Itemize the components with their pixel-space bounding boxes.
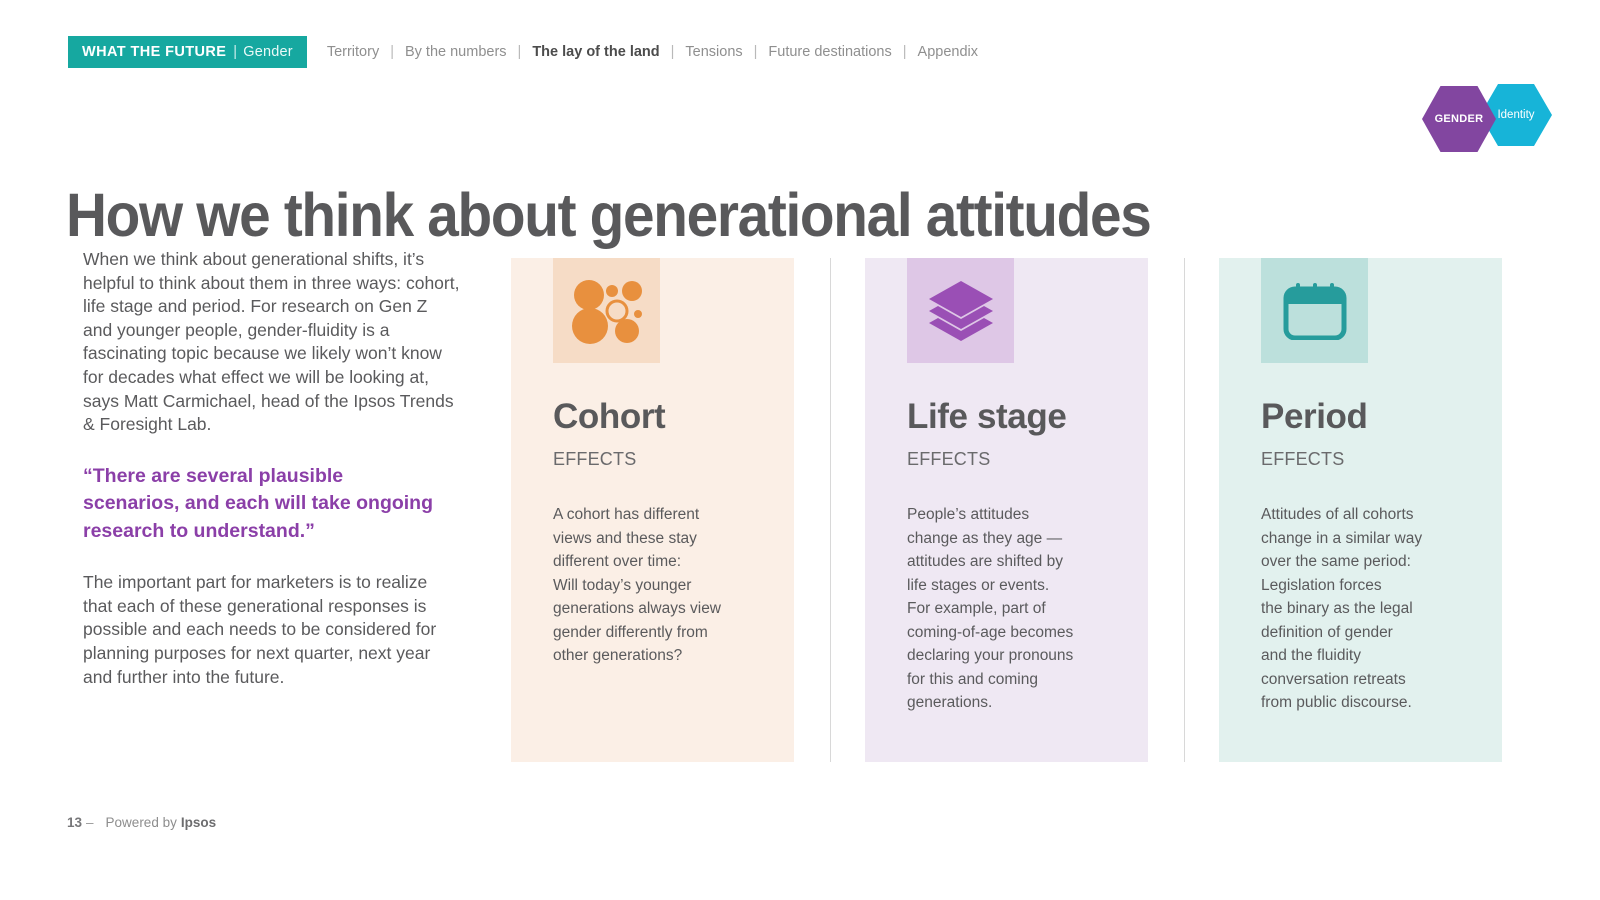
calendar-icon	[1283, 282, 1347, 340]
gender-hexagon-icon: GENDER	[1422, 86, 1496, 152]
ipsos-brand: Ipsos	[181, 815, 216, 830]
brand-separator: |	[233, 44, 237, 60]
pull-quote: “There are several plausible scenarios, …	[83, 463, 433, 546]
left-text-column: When we think about generational shifts,…	[83, 248, 461, 689]
hexagon-logo-group: Identity GENDER	[1422, 84, 1562, 156]
card-divider	[1184, 258, 1185, 762]
nav-item-future-destinations[interactable]: Future destinations	[768, 44, 891, 60]
nav-separator: |	[671, 44, 675, 60]
footer-dash: –	[86, 815, 94, 830]
card-divider	[830, 258, 831, 762]
nav-item-territory[interactable]: Territory	[327, 44, 379, 60]
nav-item-appendix[interactable]: Appendix	[918, 44, 978, 60]
card-cohort[interactable]: Cohort EFFECTS A cohort has different vi…	[511, 258, 794, 762]
identity-hexagon-label: Identity	[1497, 109, 1534, 121]
page-number: 13	[67, 815, 82, 830]
nav-item-the-lay-of-the-land[interactable]: The lay of the land	[532, 44, 659, 60]
card-life-stage[interactable]: Life stage EFFECTS People’s attitudes ch…	[865, 258, 1148, 762]
powered-by-label: Powered by	[106, 815, 177, 830]
life-stage-subtitle: EFFECTS	[907, 448, 990, 470]
period-title: Period	[1261, 397, 1368, 437]
dots-cluster-icon	[570, 278, 644, 344]
brand-title: WHAT THE FUTURE	[82, 44, 226, 60]
cohort-title: Cohort	[553, 397, 665, 437]
card-period[interactable]: Period EFFECTS Attitudes of all cohorts …	[1219, 258, 1502, 762]
nav-separator: |	[754, 44, 758, 60]
top-navigation-bar: WHAT THE FUTURE | Gender Territory | By …	[68, 36, 978, 68]
section-nav-links: Territory | By the numbers | The lay of …	[327, 44, 978, 60]
brand-badge[interactable]: WHAT THE FUTURE | Gender	[68, 36, 307, 68]
period-body-text: Attitudes of all cohorts change in a sim…	[1261, 503, 1473, 715]
nav-separator: |	[390, 44, 394, 60]
nav-item-tensions[interactable]: Tensions	[685, 44, 742, 60]
brand-subtitle: Gender	[243, 44, 293, 60]
footer: 13 – Powered by Ipsos	[67, 815, 216, 830]
cohort-subtitle: EFFECTS	[553, 448, 636, 470]
life-stage-icon-container	[907, 258, 1014, 363]
intro-paragraph: When we think about generational shifts,…	[83, 248, 461, 437]
nav-separator: |	[518, 44, 522, 60]
life-stage-body-text: People’s attitudes change as they age — …	[907, 503, 1119, 715]
nav-separator: |	[903, 44, 907, 60]
cohort-body-text: A cohort has different views and these s…	[553, 503, 765, 668]
nav-item-by-the-numbers[interactable]: By the numbers	[405, 44, 507, 60]
period-icon-container	[1261, 258, 1368, 363]
cohort-icon-container	[553, 258, 660, 363]
period-subtitle: EFFECTS	[1261, 448, 1344, 470]
gender-hexagon-label: GENDER	[1435, 113, 1484, 125]
life-stage-title: Life stage	[907, 397, 1066, 437]
page-title: How we think about generational attitude…	[66, 179, 1150, 251]
layers-icon	[928, 280, 994, 342]
closing-paragraph: The important part for marketers is to r…	[83, 571, 461, 689]
